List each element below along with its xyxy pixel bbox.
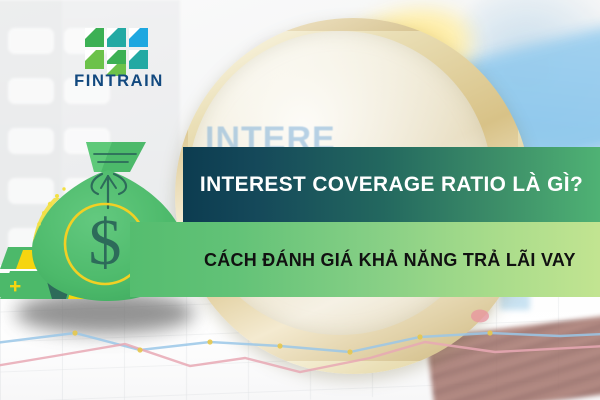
- banner-subtitle: CÁCH ĐÁNH GIÁ KHẢ NĂNG TRẢ LÃI VAY: [154, 249, 576, 271]
- banner-title: INTEREST COVERAGE RATIO LÀ GÌ?: [200, 172, 583, 197]
- calculator-key: [8, 28, 54, 54]
- subtitle-banner: CÁCH ĐÁNH GIÁ KHẢ NĂNG TRẢ LÃI VAY: [130, 222, 600, 297]
- calculator-key: [8, 78, 54, 104]
- poster-canvas: INTERE: [0, 0, 600, 400]
- svg-text:$: $: [89, 206, 122, 279]
- brand-name: FINTRAIN: [73, 72, 165, 91]
- title-banner: INTEREST COVERAGE RATIO LÀ GÌ?: [183, 147, 600, 222]
- fintrain-triangle-tiles-logo: [84, 24, 150, 76]
